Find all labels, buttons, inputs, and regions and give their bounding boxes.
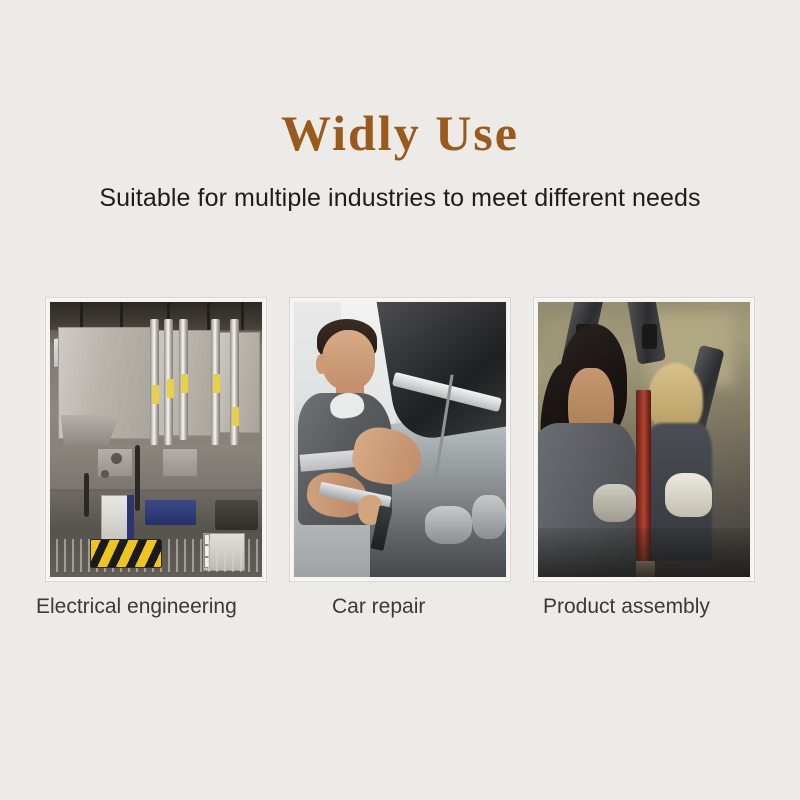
blue-equipment-unit bbox=[145, 500, 196, 525]
pipe-label-tag bbox=[232, 407, 239, 426]
electrical-conduit bbox=[84, 473, 89, 517]
caption-electrical-engineering: Electrical engineering bbox=[36, 592, 237, 622]
product-assembly-photo bbox=[538, 302, 750, 577]
panel-car-repair[interactable] bbox=[289, 297, 511, 582]
engine-component bbox=[472, 495, 506, 539]
panel-captions: Electrical engineering Car repair Produc… bbox=[0, 592, 800, 626]
widly-use-banner: Widly Use Suitable for multiple industri… bbox=[0, 0, 800, 800]
ceiling-beam bbox=[207, 302, 210, 330]
pipe-label-tag bbox=[152, 385, 159, 404]
engine-component bbox=[425, 506, 472, 545]
hazard-stripe-barrier bbox=[90, 539, 162, 569]
caption-product-assembly: Product assembly bbox=[543, 592, 710, 622]
industrial-plant-photo bbox=[50, 302, 262, 577]
vertical-pipe bbox=[150, 319, 159, 446]
blue-cabinet-edge bbox=[127, 495, 133, 539]
dark-machine-drum bbox=[215, 500, 257, 530]
worker-right-glove bbox=[665, 473, 712, 517]
foreground-shadow bbox=[538, 528, 750, 578]
panel-product-assembly[interactable] bbox=[533, 297, 755, 582]
ceiling-beam bbox=[80, 302, 83, 330]
panel-electrical-engineering[interactable] bbox=[45, 297, 267, 582]
ceiling-beam bbox=[120, 302, 123, 330]
worker-left-glove bbox=[593, 484, 635, 523]
page-title: Widly Use bbox=[0, 108, 800, 158]
steel-plate bbox=[162, 448, 198, 478]
tool-grip bbox=[642, 324, 657, 349]
ceiling-beam bbox=[241, 302, 244, 330]
hopper-chute bbox=[61, 415, 120, 445]
caption-car-repair: Car repair bbox=[332, 592, 425, 622]
car-repair-photo bbox=[294, 302, 506, 577]
pipe-label-tag bbox=[213, 374, 220, 393]
industry-panels bbox=[45, 297, 755, 582]
pipe-label-tag bbox=[181, 374, 188, 393]
vertical-pipe bbox=[230, 319, 239, 446]
page-subtitle: Suitable for multiple industries to meet… bbox=[0, 183, 800, 213]
mechanic-ear bbox=[316, 354, 327, 373]
pipe-label-tag bbox=[167, 379, 174, 398]
electrical-conduit bbox=[135, 445, 140, 511]
